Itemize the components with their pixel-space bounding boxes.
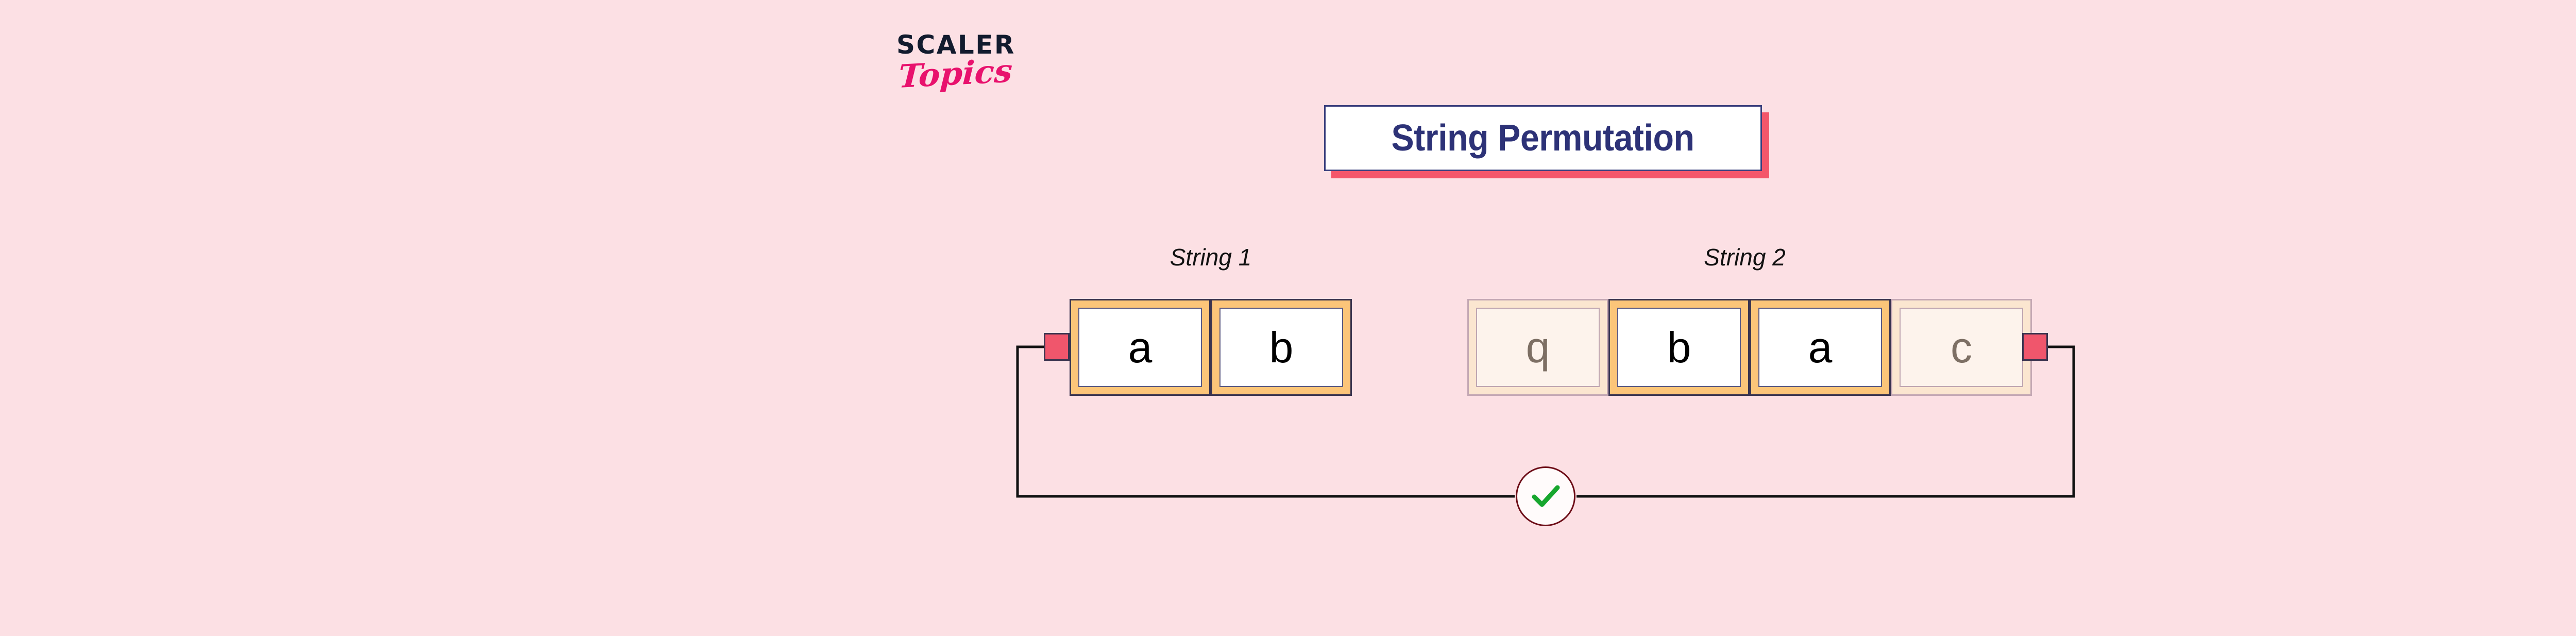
match-result-badge xyxy=(1516,466,1575,526)
scaler-topics-logo: SCALER Topics xyxy=(896,32,1051,130)
string-2-cell-1-inner: b xyxy=(1617,308,1741,387)
title-banner: String Permutation xyxy=(1324,105,1762,171)
diagram-canvas: SCALER Topics String Permutation String … xyxy=(0,0,2576,636)
string-2-cell-3-inner: c xyxy=(1900,308,2023,387)
left-connector-tab xyxy=(1044,333,1070,361)
string-2-cell-2-inner: a xyxy=(1758,308,1882,387)
string-2-cell-1-letter: b xyxy=(1667,326,1691,369)
string-1-cell-0[interactable]: a xyxy=(1070,299,1211,396)
check-circle xyxy=(1516,466,1575,526)
string-2-cell-2[interactable]: a xyxy=(1750,299,1891,396)
page-title: String Permutation xyxy=(1392,117,1694,159)
string-2-cell-2-letter: a xyxy=(1808,326,1833,369)
string-1-strip: a b xyxy=(1070,299,1352,396)
string-1-cell-1-letter: b xyxy=(1269,326,1294,369)
check-icon xyxy=(1527,477,1565,515)
string-2-cell-0[interactable]: q xyxy=(1467,299,1608,396)
right-connector-tab xyxy=(2022,333,2048,361)
string-2-cell-3-letter: c xyxy=(1951,326,1972,369)
string-1-cell-0-inner: a xyxy=(1078,308,1202,387)
string-1-label: String 1 xyxy=(1070,243,1352,271)
string-2-cell-0-letter: q xyxy=(1526,326,1550,369)
string-1-cell-1-inner: b xyxy=(1219,308,1343,387)
title-plate: String Permutation xyxy=(1324,105,1762,171)
string-2-label: String 2 xyxy=(1467,243,2022,271)
logo-topics-text: Topics xyxy=(897,53,1052,93)
string-2-cell-3[interactable]: c xyxy=(1891,299,2032,396)
string-2-cell-1[interactable]: b xyxy=(1608,299,1750,396)
string-1-cell-1[interactable]: b xyxy=(1211,299,1352,396)
string-1-cell-0-letter: a xyxy=(1128,326,1153,369)
string-2-strip: q b a c xyxy=(1467,299,2032,396)
string-2-cell-0-inner: q xyxy=(1476,308,1600,387)
